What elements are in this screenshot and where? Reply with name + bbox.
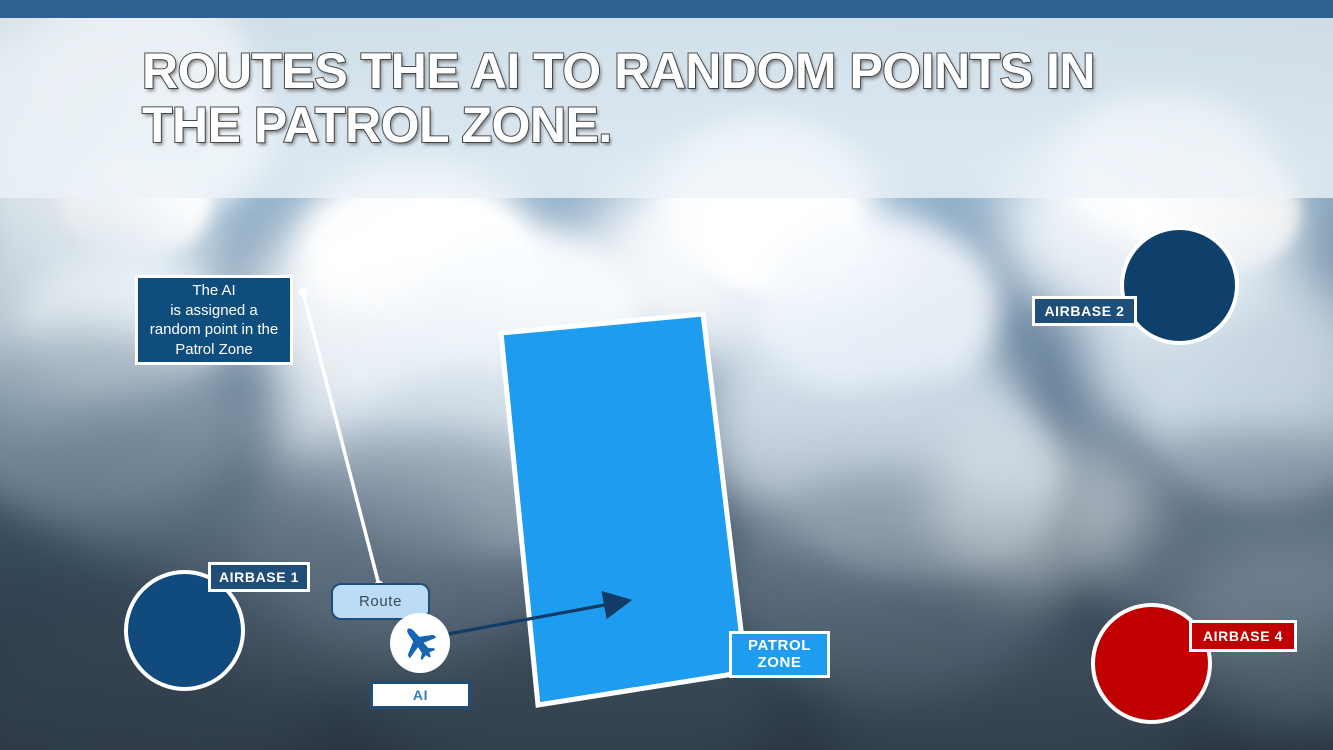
callout-line-1: The AI	[192, 281, 235, 301]
slide-canvas: The AI is assigned a random point in the…	[0, 0, 1333, 750]
patrol-zone-label-line1: PATROL	[748, 638, 811, 655]
ai-label[interactable]: AI	[370, 681, 471, 709]
airbase-2-label[interactable]: AIRBASE 2	[1032, 296, 1137, 326]
slide-title: ROUTES THE AI TO RANDOM POINTS IN THE PA…	[142, 44, 1202, 152]
ai-jet-badge[interactable]	[390, 613, 450, 673]
airbase-1-label[interactable]: AIRBASE 1	[208, 562, 310, 592]
callout-line-4: Patrol Zone	[175, 340, 253, 360]
patrol-zone-label[interactable]: PATROL ZONE	[729, 631, 830, 678]
airbase-2-circle[interactable]	[1120, 226, 1239, 345]
callout-box-ai-assignment: The AI is assigned a random point in the…	[135, 275, 293, 365]
callout-line-2: is assigned a	[170, 301, 258, 321]
fighter-jet-icon	[398, 621, 442, 665]
patrol-zone-label-line2: ZONE	[757, 655, 801, 672]
airbase-4-label[interactable]: AIRBASE 4	[1189, 620, 1297, 652]
patrol-zone-shape[interactable]	[488, 300, 764, 720]
callout-line-3: random point in the	[150, 320, 278, 340]
top-accent-strip	[0, 0, 1333, 18]
